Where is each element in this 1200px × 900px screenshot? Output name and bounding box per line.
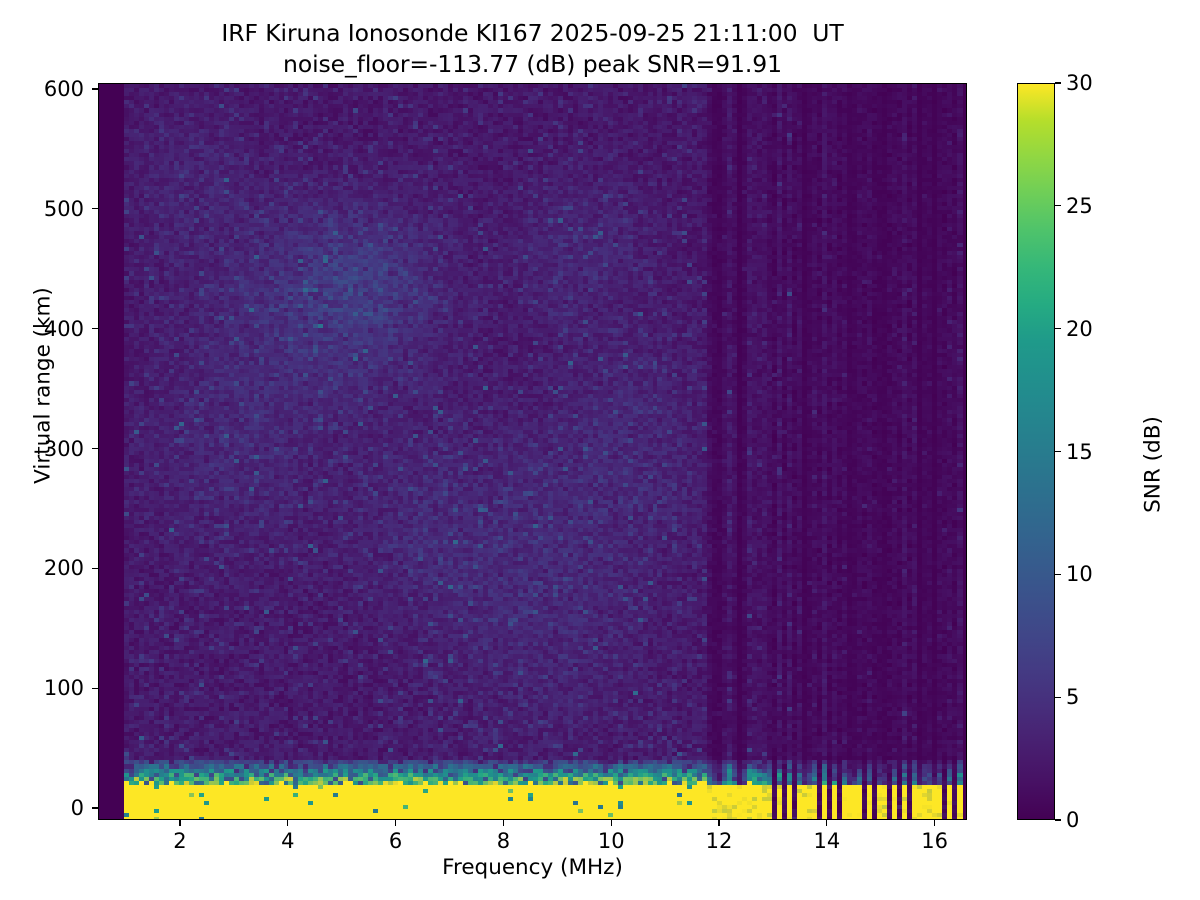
colorbar-tick-mark [1055,205,1061,206]
title-line-1: IRF Kiruna Ionosonde KI167 2025-09-25 21… [98,18,967,49]
colorbar [1017,83,1055,820]
x-tick-mark [611,820,612,826]
x-tick-label: 10 [598,829,625,853]
x-tick-label: 14 [813,829,840,853]
colorbar-tick-label: 15 [1066,440,1093,464]
x-tick-label: 4 [281,829,294,853]
x-tick-mark [179,820,180,826]
x-tick-mark [826,820,827,826]
colorbar-tick-mark [1055,328,1061,329]
x-tick-label: 8 [497,829,510,853]
colorbar-tick-mark [1055,697,1061,698]
title-line-2: noise_floor=-113.77 (dB) peak SNR=91.91 [98,49,967,80]
colorbar-tick-mark [1055,451,1061,452]
y-tick-mark [92,807,98,808]
colorbar-label: SNR (dB) [1141,315,1166,615]
colorbar-tick-label: 0 [1066,808,1079,832]
colorbar-gradient [1018,84,1054,819]
y-tick-mark [92,448,98,449]
x-tick-label: 12 [706,829,733,853]
x-tick-mark [287,820,288,826]
y-tick-label: 600 [44,77,84,101]
ionogram-figure: IRF Kiruna Ionosonde KI167 2025-09-25 21… [0,0,1200,900]
x-tick-label: 2 [173,829,186,853]
colorbar-tick-mark [1055,819,1061,820]
figure-title: IRF Kiruna Ionosonde KI167 2025-09-25 21… [98,18,967,79]
ionogram-plot-area [98,83,967,820]
colorbar-tick-mark [1055,574,1061,575]
y-tick-label: 0 [71,796,84,820]
x-tick-mark [395,820,396,826]
y-tick-mark [92,568,98,569]
colorbar-tick-label: 10 [1066,562,1093,586]
x-tick-label: 6 [389,829,402,853]
y-tick-label: 200 [44,556,84,580]
colorbar-tick-label: 25 [1066,194,1093,218]
ionogram-heatmap [99,84,967,820]
colorbar-tick-label: 5 [1066,685,1079,709]
x-tick-label: 16 [921,829,948,853]
y-tick-mark [92,208,98,209]
x-tick-mark [718,820,719,826]
x-tick-mark [503,820,504,826]
y-axis-label: Virtual range (km) [31,236,56,536]
y-tick-mark [92,328,98,329]
x-axis-label: Frequency (MHz) [98,855,967,880]
y-tick-label: 100 [44,676,84,700]
colorbar-tick-mark [1055,82,1061,83]
y-tick-label: 500 [44,197,84,221]
y-tick-mark [92,88,98,89]
x-tick-mark [934,820,935,826]
colorbar-tick-label: 20 [1066,317,1093,341]
y-tick-mark [92,688,98,689]
colorbar-tick-label: 30 [1066,71,1093,95]
